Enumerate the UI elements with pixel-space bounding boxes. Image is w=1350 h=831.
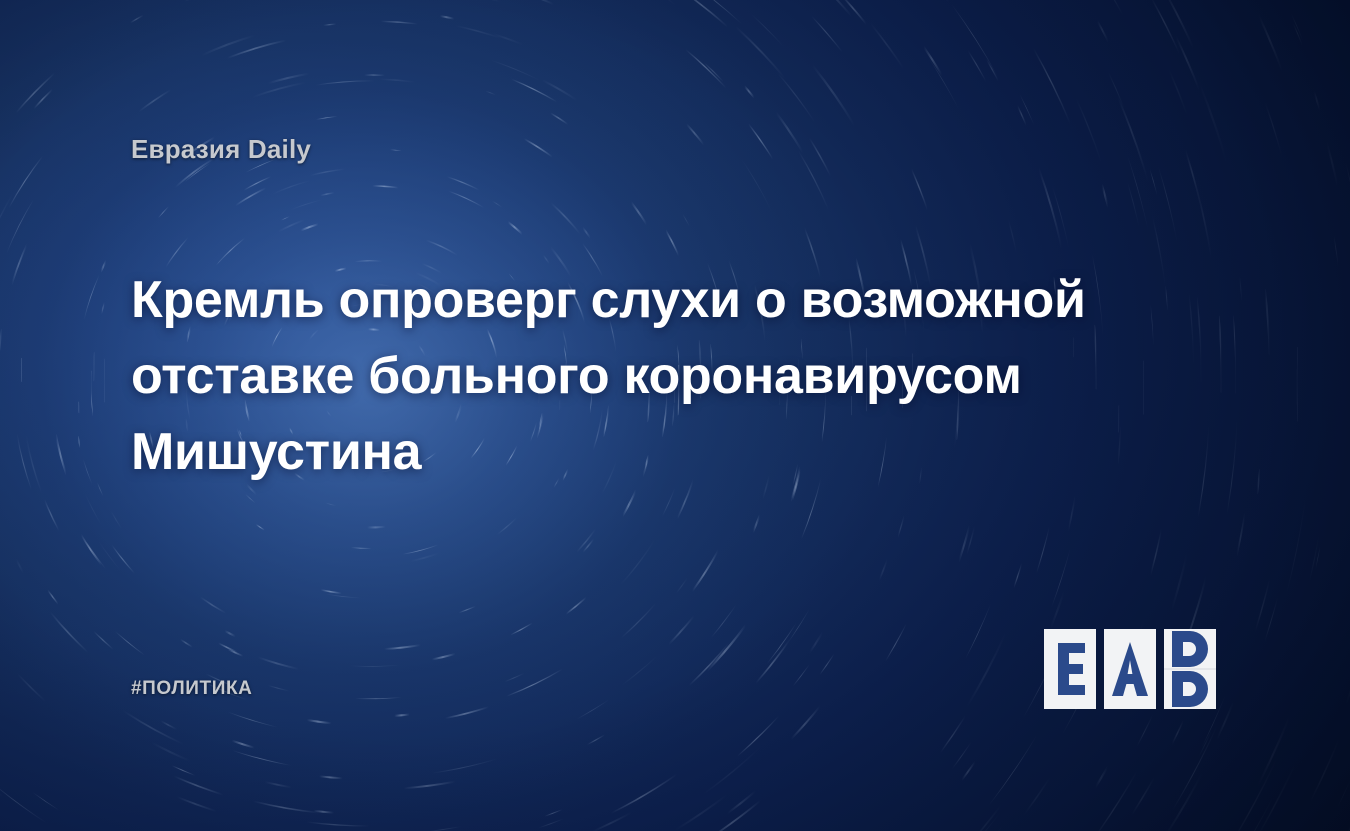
- news-share-card: Евразия Daily Кремль опроверг слухи о во…: [0, 0, 1350, 831]
- logo-tile-split-d: [1164, 629, 1216, 709]
- logo-tile-a: [1104, 629, 1156, 709]
- publisher-brand-name: Евразия Daily: [131, 134, 311, 165]
- headline-line: отставке больного коронавирусом: [131, 347, 1022, 405]
- logo-tile-e: [1044, 629, 1096, 709]
- category-tag: #ПОЛИТИКА: [131, 678, 253, 700]
- headline-line: Кремль опроверг слухи о возможной: [131, 271, 1086, 329]
- headline-line: Мишустина: [131, 423, 421, 481]
- headline: Кремль опроверг слухи о возможнойотставк…: [131, 262, 1151, 490]
- eadaily-logo-mark: [1044, 629, 1224, 713]
- eadaily-logo: [1044, 629, 1224, 713]
